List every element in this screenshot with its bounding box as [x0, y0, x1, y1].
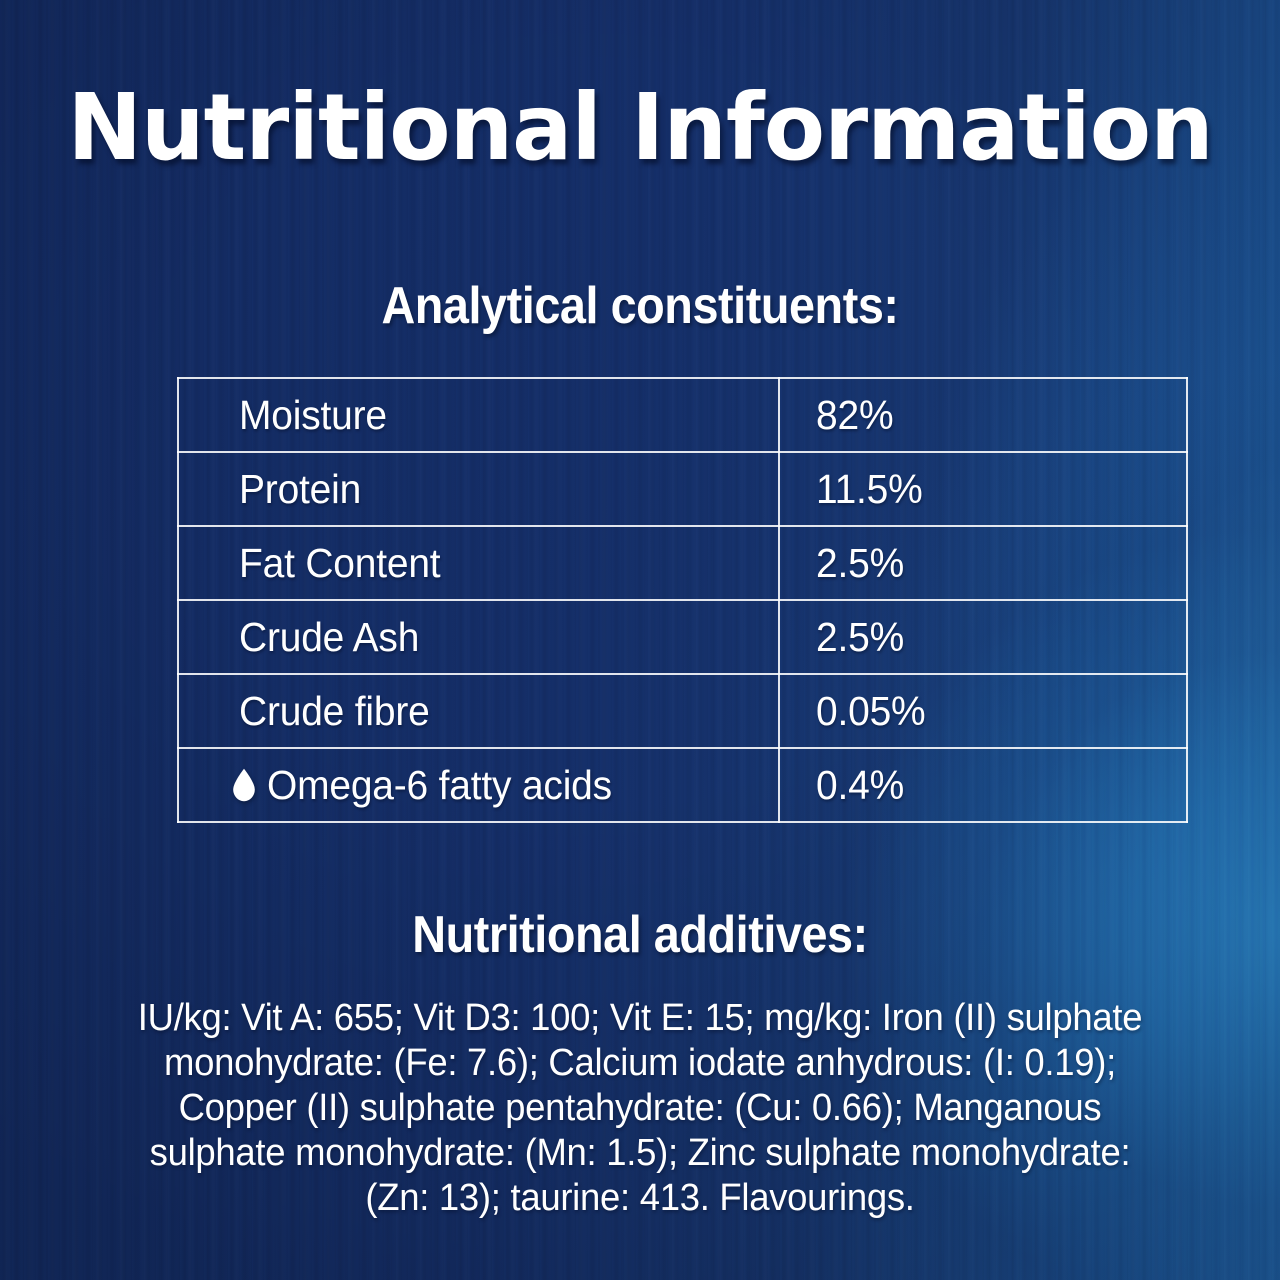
nutritional-additives-text: IU/kg: Vit A: 655; Vit D3: 100; Vit E: 1… — [90, 996, 1190, 1221]
constituent-value: 0.4% — [816, 762, 904, 808]
constituent-value: 2.5% — [816, 614, 904, 660]
table-row: Protein 11.5% — [178, 452, 1187, 526]
table-cell-value: 11.5% — [779, 452, 1187, 526]
nutrition-panel: Nutritional Information Analytical const… — [0, 0, 1280, 1280]
table-row: Crude Ash 2.5% — [178, 600, 1187, 674]
table-cell-name: Crude fibre — [178, 674, 779, 748]
table-cell-name: Protein — [178, 452, 779, 526]
constituent-value: 0.05% — [816, 688, 926, 734]
additives-line: monohydrate: (Fe: 7.6); Calcium iodate a… — [112, 1041, 1168, 1086]
analytical-constituents-heading: Analytical constituents: — [64, 277, 1216, 335]
droplet-icon — [231, 768, 257, 802]
table-cell-value: 0.4% — [779, 748, 1187, 822]
table-cell-name: Fat Content — [178, 526, 779, 600]
additives-line: IU/kg: Vit A: 655; Vit D3: 100; Vit E: 1… — [112, 996, 1168, 1041]
table-row: Fat Content 2.5% — [178, 526, 1187, 600]
table-cell-value: 2.5% — [779, 600, 1187, 674]
constituent-label: Crude fibre — [239, 688, 430, 734]
constituent-value: 82% — [816, 392, 893, 438]
page-title: Nutritional Information — [19, 76, 1261, 180]
nutritional-additives-heading: Nutritional additives: — [64, 906, 1216, 964]
table-cell-name: Crude Ash — [178, 600, 779, 674]
table-cell-name: Omega-6 fatty acids — [178, 748, 779, 822]
constituent-label: Fat Content — [239, 540, 440, 586]
table-cell-value: 2.5% — [779, 526, 1187, 600]
table-cell-value: 0.05% — [779, 674, 1187, 748]
table-row: Moisture 82% — [178, 378, 1187, 452]
additives-line: Copper (II) sulphate pentahydrate: (Cu: … — [112, 1086, 1168, 1131]
constituent-value: 2.5% — [816, 540, 904, 586]
constituent-label: Protein — [239, 466, 361, 512]
constituent-label: Omega-6 fatty acids — [267, 762, 612, 808]
constituent-label: Moisture — [239, 392, 387, 438]
table-row: Omega-6 fatty acids 0.4% — [178, 748, 1187, 822]
additives-line: (Zn: 13); taurine: 413. Flavourings. — [112, 1176, 1168, 1221]
table-row: Crude fibre 0.05% — [178, 674, 1187, 748]
table-cell-name: Moisture — [178, 378, 779, 452]
table-cell-value: 82% — [779, 378, 1187, 452]
constituent-value: 11.5% — [816, 466, 923, 512]
analytical-constituents-table: Moisture 82% Protein 11.5% — [177, 377, 1188, 823]
constituent-label: Crude Ash — [239, 614, 419, 660]
additives-line: sulphate monohydrate: (Mn: 1.5); Zinc su… — [112, 1131, 1168, 1176]
